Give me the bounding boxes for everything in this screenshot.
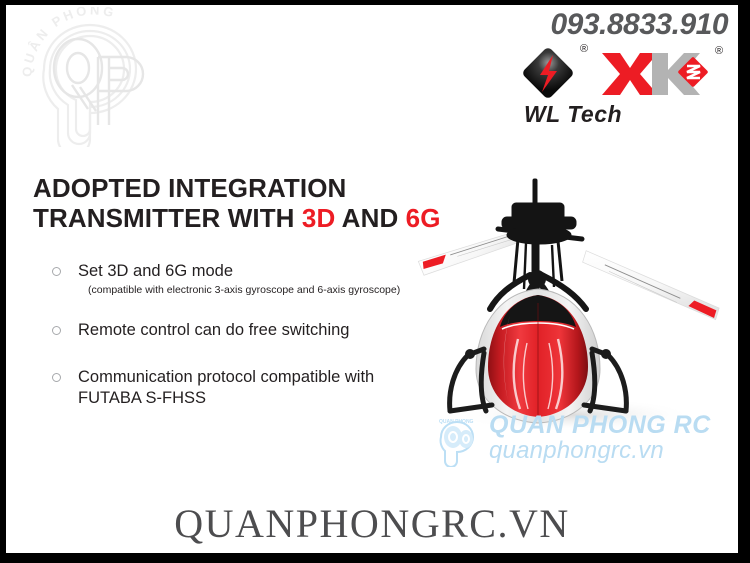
list-item-subtext: (compatible with electronic 3-axis gyros… <box>88 284 452 298</box>
screenshot-canvas: QUÂN PHONG 093.8833.910 <box>0 0 750 563</box>
footer-site-name: QUANPHONGRC.VN <box>174 501 569 546</box>
registered-mark-xk: ® <box>715 45 723 57</box>
phone-number: 093.8833.910 <box>472 9 732 41</box>
list-item-label: Set 3D and 6G mode <box>78 262 233 280</box>
xk-logo-icon <box>600 51 710 97</box>
list-item: Communication protocol compatible with F… <box>52 367 452 409</box>
footer-banner: QUANPHONGRC.VN <box>6 500 738 547</box>
headline-line-1: ADOPTED INTEGRATION <box>33 173 463 203</box>
list-item: Set 3D and 6G mode (compatible with elec… <box>52 261 452 298</box>
page-title: ADOPTED INTEGRATION TRANSMITTER WITH 3D … <box>33 173 463 234</box>
watermark-line-2: quanphongrc.vn <box>489 439 711 463</box>
quan-phong-ghost-logo: QUÂN PHONG <box>14 7 184 147</box>
wl-tech-diamond-icon <box>520 45 576 101</box>
bullet-circle-icon <box>52 373 61 382</box>
svg-text:QUÂN PHONG: QUÂN PHONG <box>19 7 118 77</box>
list-item: Remote control can do free switching <box>52 320 452 341</box>
ghost-arc-text: QUÂN PHONG <box>19 7 118 77</box>
headline-accent-3d: 3D <box>302 203 335 233</box>
headline-accent-6g: 6G <box>406 203 441 233</box>
headline-line2-mid: AND <box>335 203 405 233</box>
brand-block: 093.8833.910 <box>472 9 732 105</box>
content-plate: QUÂN PHONG 093.8833.910 <box>6 5 738 553</box>
list-item-label: Remote control can do free switching <box>78 321 349 339</box>
bullet-circle-icon <box>52 326 61 335</box>
feature-list: Set 3D and 6G mode (compatible with elec… <box>52 261 452 431</box>
headline-line-2: TRANSMITTER WITH 3D AND 6G <box>33 203 463 233</box>
list-item-label: Communication protocol compatible with F… <box>78 367 388 409</box>
bullet-circle-icon <box>52 267 61 276</box>
registered-mark-wl: ® <box>580 43 588 55</box>
headline-line2-pre: TRANSMITTER WITH <box>33 203 302 233</box>
logo-row: ® ® WL Tech <box>472 43 732 105</box>
wl-tech-label: WL Tech <box>508 101 638 128</box>
